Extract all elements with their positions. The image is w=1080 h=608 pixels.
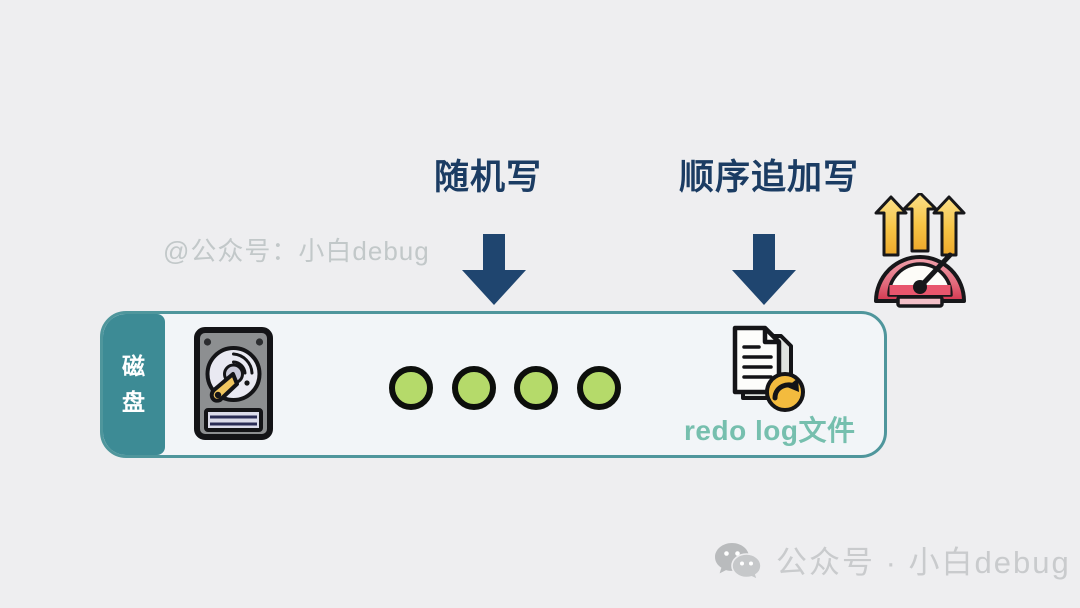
data-page-dot	[577, 366, 621, 410]
redo-log-label: redo log文件	[684, 409, 855, 449]
arrow-down-icon	[729, 234, 799, 306]
disk-tab-char: 盘	[122, 385, 146, 421]
disk-tab-char: 磁	[122, 349, 146, 385]
arrow-up-icon	[904, 193, 936, 251]
random-write-label: 随机写	[434, 160, 542, 195]
wechat-icon	[714, 540, 762, 580]
hard-disk-drive-icon	[194, 327, 273, 440]
footer-brand: 公众号 · 小白debug	[714, 537, 1071, 582]
speedometer-icon	[858, 193, 982, 315]
arrow-up-icon	[934, 197, 964, 255]
watermark-text: @公众号：小白debug	[163, 231, 430, 268]
sequential-append-write-label: 顺序追加写	[679, 160, 859, 195]
diagram-canvas: @公众号：小白debug 随机写 顺序追加写	[0, 0, 1080, 608]
data-page-dot	[389, 366, 433, 410]
footer-brand-text: 公众号 · 小白debug	[776, 537, 1071, 582]
arrow-down-icon	[459, 234, 529, 306]
data-page-dot	[514, 366, 558, 410]
data-page-dot	[452, 366, 496, 410]
disk-tab-label: 磁 盘	[103, 314, 165, 455]
arrow-up-icon	[876, 197, 906, 255]
document-stack-redo-icon	[719, 322, 805, 412]
disk-tab: 磁 盘	[103, 314, 165, 455]
